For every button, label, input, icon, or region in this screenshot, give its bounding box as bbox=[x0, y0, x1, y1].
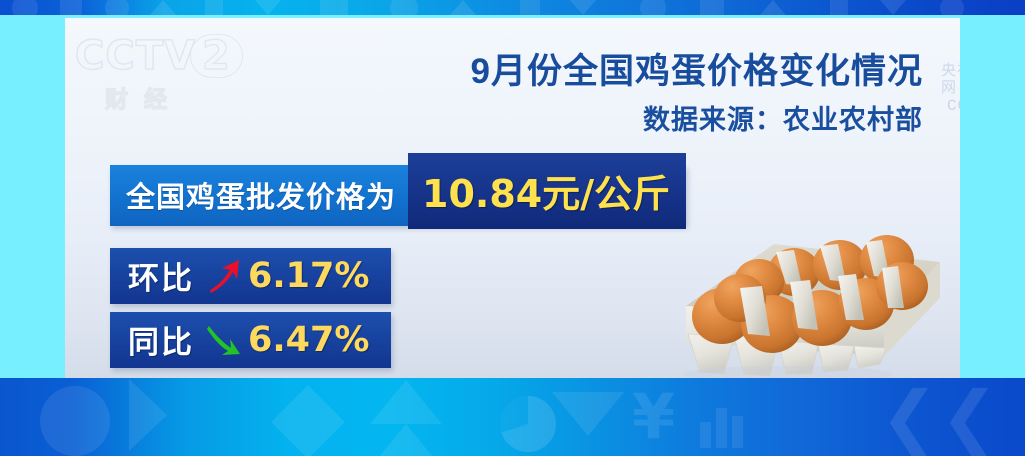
chevron-left-icon-2: ❮ bbox=[940, 384, 999, 450]
deco-triangle-up-2 bbox=[370, 424, 442, 456]
broadcast-graphic: CCTV2 财经 央视网 com 9月份全国鸡蛋价格变化情况 数据来源：农业农村… bbox=[0, 0, 1025, 456]
yen-symbol-icon: ¥ bbox=[632, 386, 675, 448]
deco-bar-1 bbox=[700, 422, 711, 448]
content-panel: CCTV2 财经 央视网 com 9月份全国鸡蛋价格变化情况 数据来源：农业农村… bbox=[65, 18, 960, 378]
deco-bar-3 bbox=[732, 416, 743, 448]
deco-triangle-right bbox=[129, 379, 167, 451]
deco-triangle-down bbox=[552, 392, 624, 436]
comparison-value-yoy: 6.47% bbox=[248, 320, 369, 360]
price-value: 10.84元/公斤 bbox=[408, 153, 686, 229]
price-headline-bar: 全国鸡蛋批发价格为 10.84元/公斤 bbox=[110, 165, 686, 226]
deco-pie-chart bbox=[500, 396, 556, 452]
chevron-left-icon-1: ❮ bbox=[880, 384, 939, 450]
egg-carton-photo bbox=[678, 224, 960, 378]
bottom-decorative-bar: ¥ ❮ ❮ bbox=[0, 378, 1025, 456]
left-cyan-strip bbox=[0, 15, 65, 378]
comparison-label-yoy: 同比 bbox=[128, 317, 194, 362]
deco-triangle-up-1 bbox=[370, 380, 442, 424]
comparison-row-yoy: 同比 6.47% bbox=[110, 312, 391, 368]
data-source-subtitle: 数据来源：农业农村部 bbox=[65, 98, 960, 137]
deco-circle bbox=[40, 386, 110, 456]
comparison-value-mom: 6.17% bbox=[248, 256, 369, 296]
comparison-label-mom: 环比 bbox=[128, 253, 194, 298]
comparison-row-mom: 环比 6.17% bbox=[110, 248, 391, 304]
right-cyan-strip bbox=[960, 15, 1025, 378]
price-label: 全国鸡蛋批发价格为 bbox=[110, 165, 408, 226]
deco-diamond bbox=[271, 385, 345, 456]
arrow-down-green-icon bbox=[204, 321, 244, 359]
deco-bar-2 bbox=[716, 408, 727, 448]
arrow-up-red-icon bbox=[204, 257, 244, 295]
top-decorative-bar bbox=[0, 0, 1025, 15]
page-title: 9月份全国鸡蛋价格变化情况 bbox=[65, 43, 960, 94]
